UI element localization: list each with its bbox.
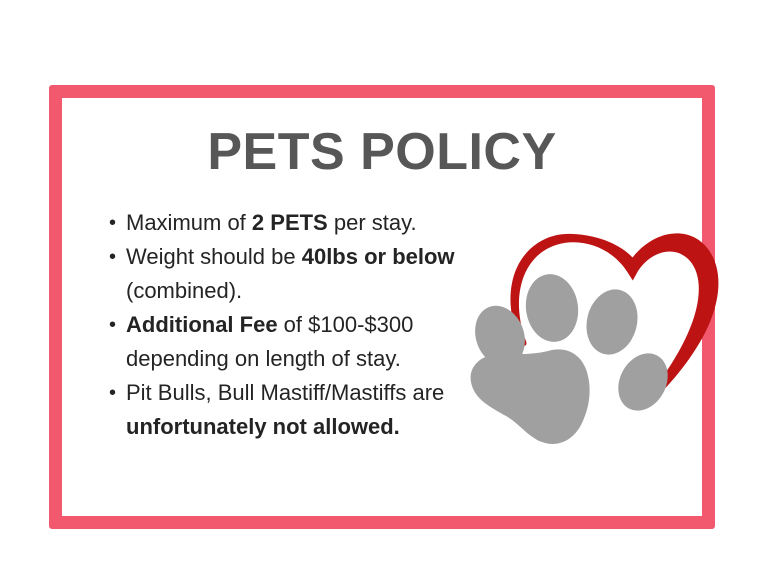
paw-print-shape <box>467 271 678 444</box>
page-title: PETS POLICY <box>62 126 702 178</box>
paw-toe-2 <box>522 271 583 346</box>
paw-toe-3 <box>580 284 644 360</box>
policy-list: Maximum of 2 PETS per stay.Weight should… <box>107 206 479 444</box>
policy-bullet-item: Maximum of 2 PETS per stay. <box>107 206 479 240</box>
paw-toe-4 <box>609 345 678 420</box>
heart-stroke-path <box>510 233 718 404</box>
policy-text-segment: 40lbs or below <box>302 244 455 269</box>
heart-outline-shape <box>510 233 718 404</box>
policy-text-segment: Additional Fee <box>126 312 278 337</box>
policy-wrapped-line: (combined). <box>107 274 479 308</box>
policy-wrapped-line: unfortunately not allowed. <box>107 410 479 444</box>
paw-main-pad <box>471 349 590 444</box>
heart-paw-logo <box>460 230 720 445</box>
policy-wrapped-line: depending on length of stay. <box>107 342 479 376</box>
policy-bullet-item: Pit Bulls, Bull Mastiff/Mastiffs are <box>107 376 479 410</box>
policy-text-segment: of $100-$300 <box>278 312 414 337</box>
policy-text-segment: depending on length of stay. <box>126 346 401 371</box>
policy-bullet-item: Weight should be 40lbs or below <box>107 240 479 274</box>
policy-text-segment: per stay. <box>328 210 417 235</box>
policy-bullet-item: Additional Fee of $100-$300 <box>107 308 479 342</box>
policy-text-segment: Maximum of <box>126 210 252 235</box>
policy-text-segment: Pit Bulls, Bull Mastiff/Mastiffs are <box>126 380 444 405</box>
policy-text-segment: (combined). <box>126 278 242 303</box>
policy-text-segment: unfortunately not allowed. <box>126 414 400 439</box>
policy-text-segment: 2 PETS <box>252 210 328 235</box>
pets-policy-sign: PETS POLICY Maximum of 2 PETS per stay.W… <box>49 85 715 529</box>
policy-text-segment: Weight should be <box>126 244 302 269</box>
